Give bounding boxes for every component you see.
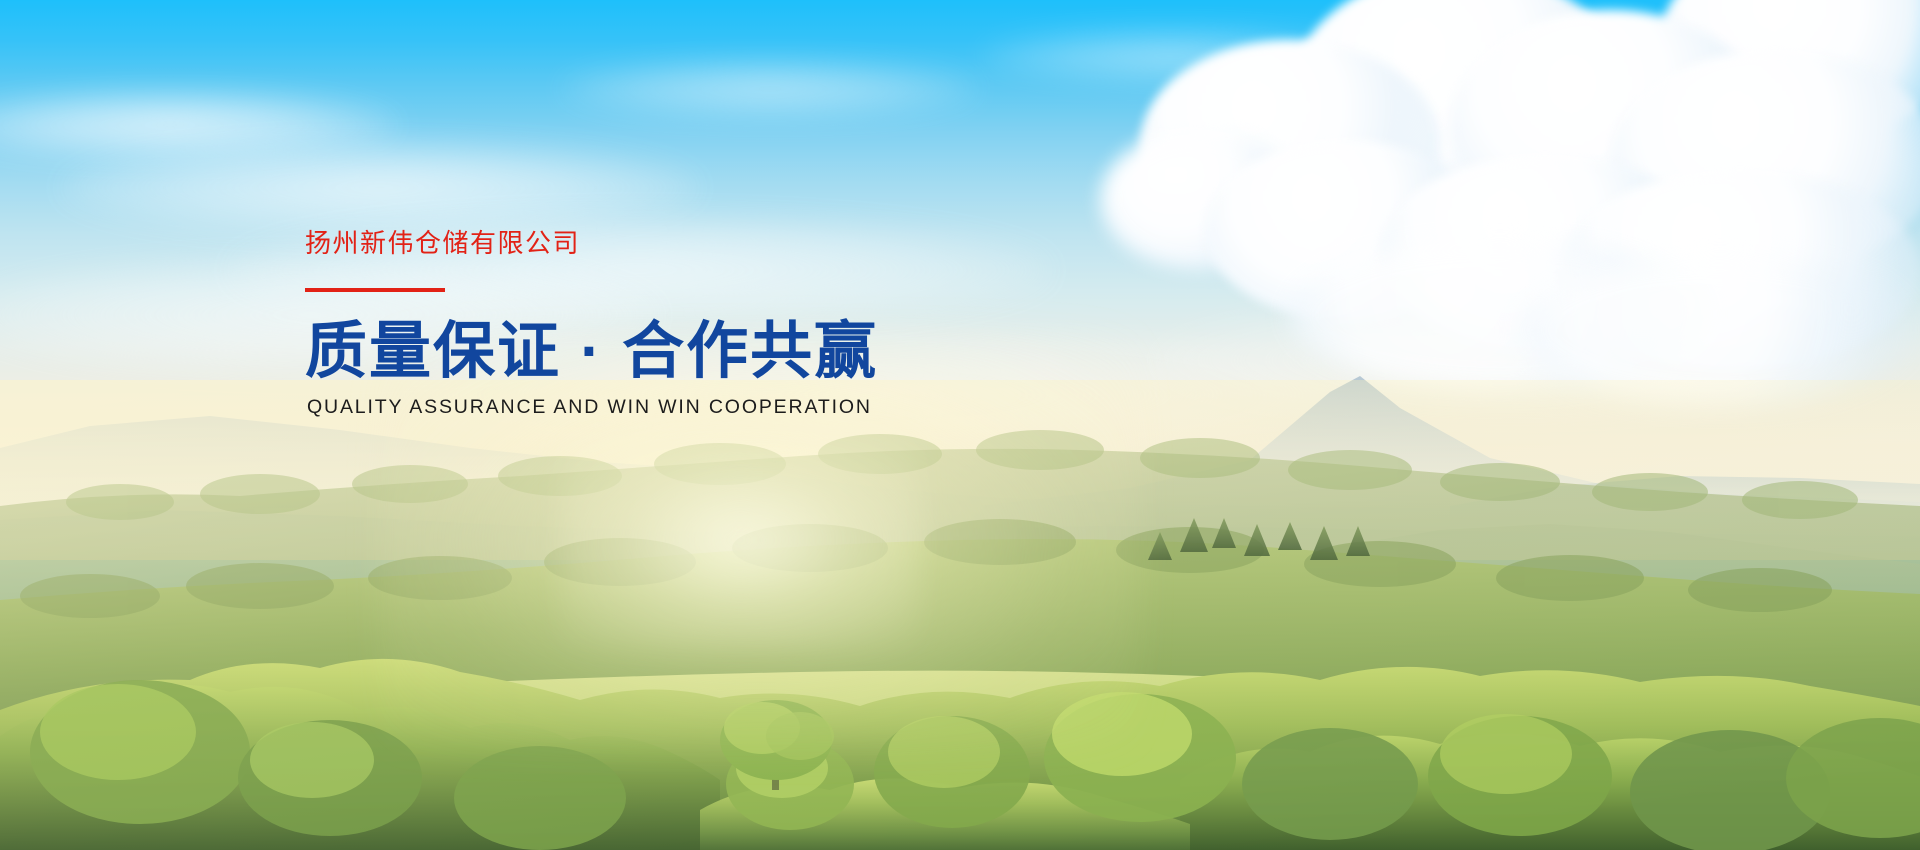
page-title: 质量保证 · 合作共赢 <box>305 318 1205 386</box>
banner-copy: 扬州新伟仓储有限公司 质量保证 · 合作共赢 QUALITY ASSURANCE… <box>305 228 1205 420</box>
red-divider-rule <box>305 288 445 292</box>
hero-banner: 扬州新伟仓储有限公司 质量保证 · 合作共赢 QUALITY ASSURANCE… <box>0 0 1920 850</box>
company-name: 扬州新伟仓储有限公司 <box>305 228 1205 259</box>
meadow-tree <box>720 700 834 790</box>
subtitle: QUALITY ASSURANCE AND WIN WIN COOPERATIO… <box>307 396 1205 419</box>
